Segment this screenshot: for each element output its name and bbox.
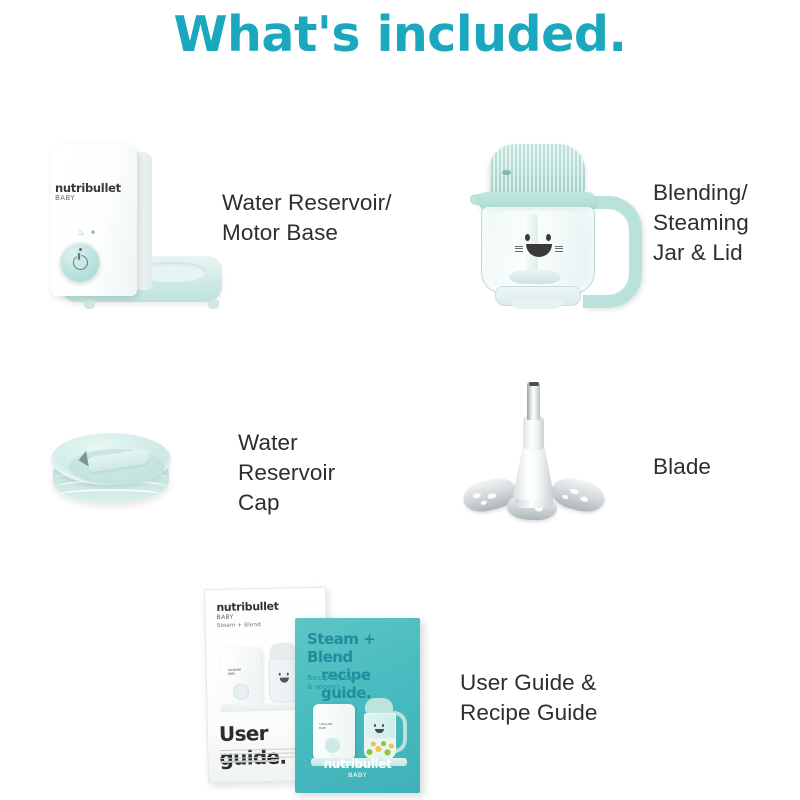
brand-sub: BABY xyxy=(55,194,127,202)
jar-vent-icon xyxy=(502,170,511,175)
page-title: What's included. xyxy=(0,6,800,63)
cover-jar-face xyxy=(373,724,387,736)
cover-dial xyxy=(325,738,340,753)
recipe-guide-cover-photo: nutribullet BABY xyxy=(313,696,417,766)
jar-foot xyxy=(511,300,563,309)
cover-jar-lid xyxy=(269,642,297,659)
brand-model: Steam + Blend xyxy=(217,621,279,629)
cover-motor-base: nutribullet BABY xyxy=(221,647,262,706)
cover-brand: nutribullet BABY xyxy=(319,722,332,730)
cover-dial xyxy=(233,683,249,699)
blade-metal-tip xyxy=(527,382,540,420)
blade-hole xyxy=(487,493,497,500)
smiley-eye-left xyxy=(525,234,530,241)
motor-base-control-dial xyxy=(60,242,100,282)
jar-smiley-face-decal xyxy=(519,224,565,270)
power-icon xyxy=(73,255,88,270)
product-image-water-reservoir-motor-base: nutribullet BABY ♨ ✦ xyxy=(38,138,228,323)
product-image-blending-steaming-jar xyxy=(455,140,630,320)
blade-hole xyxy=(480,500,487,505)
blade-hole xyxy=(562,494,569,499)
smiley-mouth xyxy=(526,244,552,257)
cap-thread-3 xyxy=(55,489,167,503)
cover-jar-face xyxy=(278,672,292,684)
blade-hole xyxy=(580,496,589,503)
cap-top xyxy=(51,433,171,485)
cover-jar-food xyxy=(365,738,395,758)
brand-name: nutribullet xyxy=(295,758,420,771)
blade-shaft-cone xyxy=(512,444,555,500)
blade-hole xyxy=(569,488,579,495)
motor-base-mode-icons: ♨ ✦ xyxy=(64,226,110,238)
cover-brand-sub: BABY xyxy=(228,672,241,676)
label-water-reservoir-cap: Water Reservoir Cap xyxy=(238,428,335,518)
recipe-guide-subtitle: Recipes, tips & more! xyxy=(307,674,377,692)
brand-sub: BABY xyxy=(217,613,279,622)
brand-name: nutribullet xyxy=(216,601,278,614)
brand-sub: BABY xyxy=(295,771,420,779)
motor-base-brand-logo: nutribullet BABY xyxy=(55,182,127,202)
cover-jar xyxy=(359,698,403,762)
label-blending-steaming-jar-lid: Blending/ Steaming Jar & Lid xyxy=(653,178,749,268)
motor-base-foot-right xyxy=(208,300,219,309)
blade-hole xyxy=(472,492,481,499)
blade-wing-right xyxy=(548,474,608,516)
cover-brand-sub: BABY xyxy=(319,726,332,730)
steam-icon: ♨ xyxy=(78,228,85,237)
recipe-guide-booklet: Steam + Blend recipe guide. Recipes, tip… xyxy=(295,618,420,793)
cover-brand: nutribullet BABY xyxy=(228,668,242,676)
blend-icon: ✦ xyxy=(90,228,97,237)
jar-inner-blade xyxy=(509,270,561,284)
label-water-reservoir-motor-base: Water Reservoir/ Motor Base xyxy=(222,188,392,248)
smiley-cheek-right xyxy=(555,244,563,248)
blade-neck xyxy=(523,416,544,450)
cover-jar-body xyxy=(364,713,396,759)
user-guide-brand-block: nutribullet BABY Steam + Blend xyxy=(216,601,279,630)
cover-jar-lid xyxy=(365,698,393,713)
motor-base-foot-left xyxy=(84,300,95,309)
recipe-guide-footer-brand: nutribullet BABY xyxy=(295,758,420,779)
whats-included-infographic: What's included. nutribullet BABY ♨ ✦ Wa… xyxy=(0,0,800,800)
recipe-guide-title-line1: Steam + Blend xyxy=(307,630,375,666)
smiley-eye-right xyxy=(546,234,551,241)
label-blade: Blade xyxy=(653,452,711,482)
product-image-guides: nutribullet BABY Steam + Blend nutribull… xyxy=(200,588,415,793)
product-image-water-reservoir-cap xyxy=(45,425,185,515)
smiley-cheek-left xyxy=(515,244,523,248)
cover-motor-base: nutribullet BABY xyxy=(313,704,355,760)
brand-name: nutribullet xyxy=(55,182,127,194)
label-user-guide-recipe-guide: User Guide & Recipe Guide xyxy=(460,668,598,728)
product-image-blade xyxy=(465,382,605,522)
